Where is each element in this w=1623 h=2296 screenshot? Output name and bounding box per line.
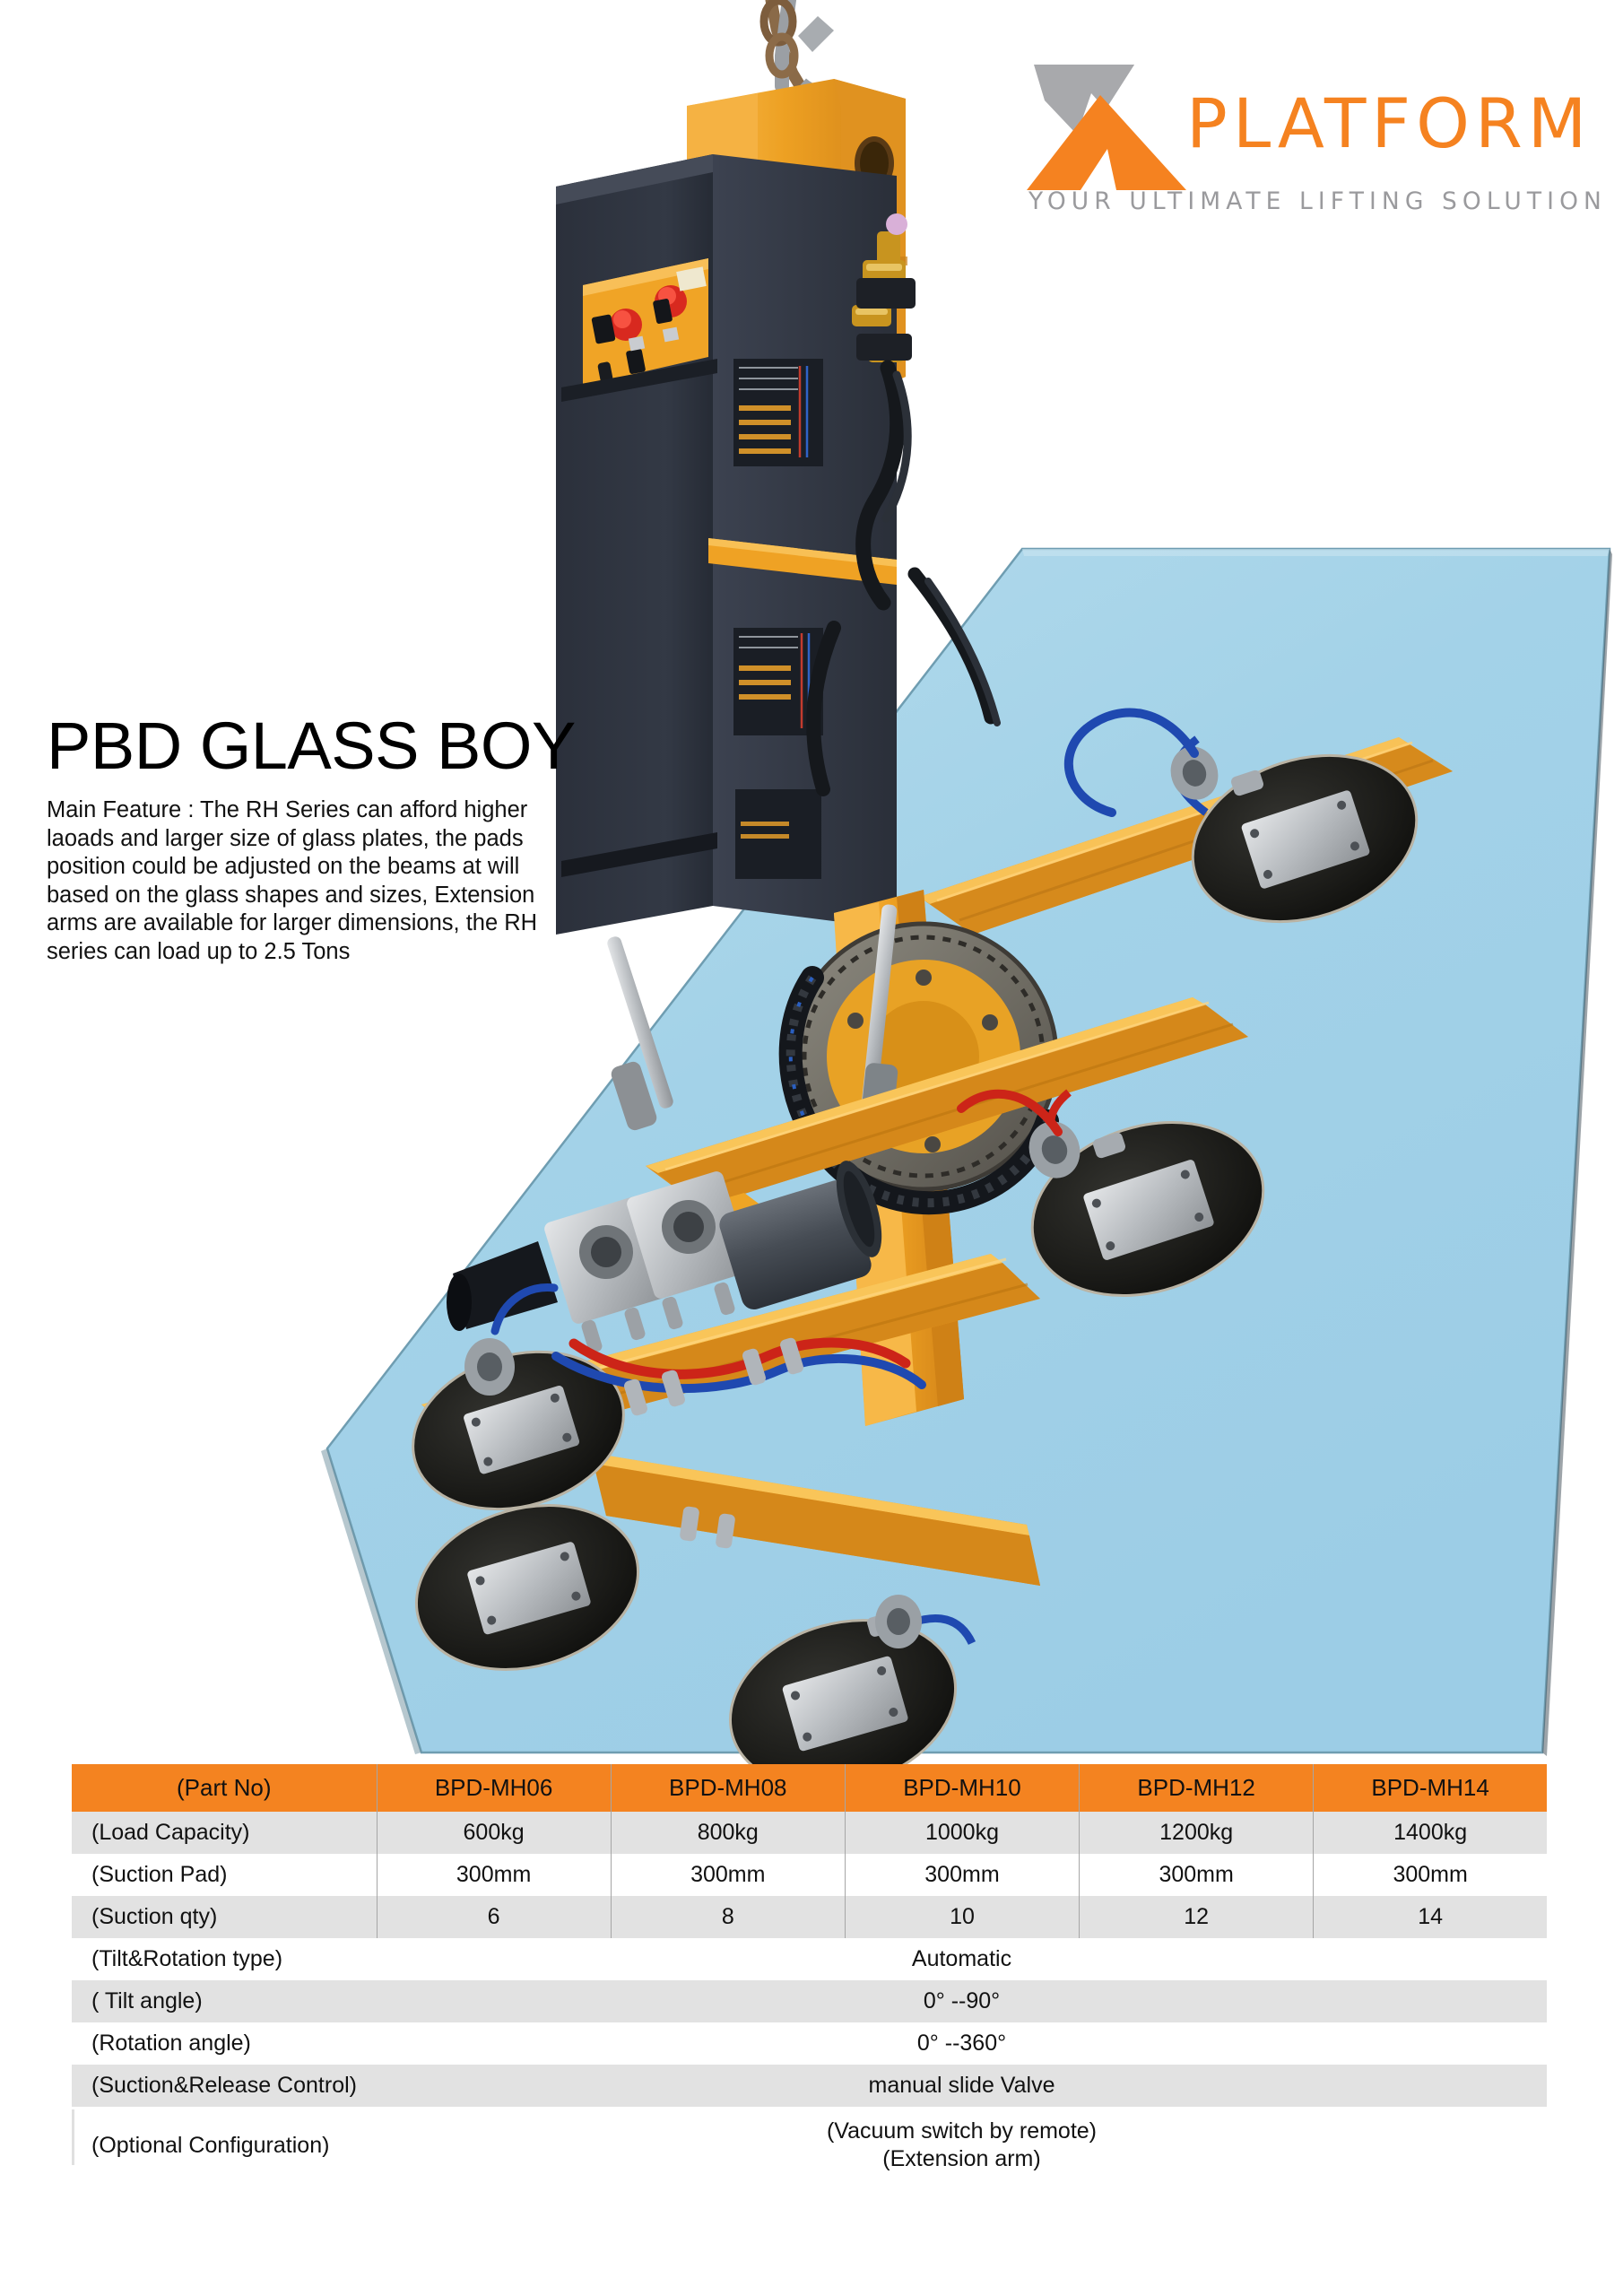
row-label: (Suction&Release Control) [72, 2065, 377, 2107]
row-value: 300mm [377, 1854, 611, 1896]
row-value: 10 [845, 1896, 1079, 1938]
table-row: (Suction&Release Control) manual slide V… [72, 2065, 1547, 2107]
logo-wordmark: PLATFORM [1186, 90, 1592, 158]
optional-config-line-1: (Vacuum switch by remote) [377, 2118, 1547, 2145]
row-label: (Rotation angle) [72, 2022, 377, 2065]
table-header-row: (Part No) BPD-MH06 BPD-MH08 BPD-MH10 BPD… [72, 1764, 1547, 1812]
header-part-no: (Part No) [72, 1764, 377, 1812]
row-value: 14 [1314, 1896, 1547, 1938]
table-row: (Optional Configuration) (Vacuum switch … [72, 2107, 1547, 2184]
row-value: 600kg [377, 1812, 611, 1854]
row-value: 8 [611, 1896, 845, 1938]
table-row: ( Tilt angle) 0° --90° [72, 1980, 1547, 2022]
table-row: (Rotation angle) 0° --360° [72, 2022, 1547, 2065]
row-label: (Optional Configuration) [72, 2107, 377, 2184]
vent-upper [733, 359, 823, 466]
control-box [556, 154, 897, 935]
table-row: (Suction Pad) 300mm 300mm 300mm 300mm 30… [72, 1854, 1547, 1896]
row-value: 300mm [1314, 1854, 1547, 1896]
row-value: 300mm [611, 1854, 845, 1896]
lifting-chain [764, 0, 834, 91]
datasheet-page: PLATFORM YOUR ULTIMATE LIFTING SOLUTION … [0, 0, 1623, 2296]
row-value-merged: Automatic [377, 1938, 1547, 1980]
main-feature-text: Main Feature : The RH Series can afford … [47, 796, 567, 966]
row-label: (Suction Pad) [72, 1854, 377, 1896]
row-value-merged: 0° --90° [377, 1980, 1547, 2022]
row-label: (Suction qty) [72, 1896, 377, 1938]
table-row: (Tilt&Rotation type) Automatic [72, 1938, 1547, 1980]
table-row: (Suction qty) 6 8 10 12 14 [72, 1896, 1547, 1938]
row-value: 800kg [611, 1812, 845, 1854]
row-value-merged: manual slide Valve [377, 2065, 1547, 2107]
brand-logo: PLATFORM YOUR ULTIMATE LIFTING SOLUTION [1027, 56, 1605, 226]
optional-config-line-2: (Extension arm) [377, 2145, 1547, 2173]
row-value: 12 [1080, 1896, 1314, 1938]
row-value-merged: 0° --360° [377, 2022, 1547, 2065]
header-model-4: BPD-MH12 [1080, 1764, 1314, 1812]
row-label: (Load Capacity) [72, 1812, 377, 1854]
header-model-1: BPD-MH06 [377, 1764, 611, 1812]
page-title: PBD GLASS BOY [47, 713, 576, 779]
row-value: 1000kg [845, 1812, 1079, 1854]
row-label: (Tilt&Rotation type) [72, 1938, 377, 1980]
row-value: 300mm [1080, 1854, 1314, 1896]
header-model-2: BPD-MH08 [611, 1764, 845, 1812]
table-row: (Load Capacity) 600kg 800kg 1000kg 1200k… [72, 1812, 1547, 1854]
header-model-5: BPD-MH14 [1314, 1764, 1547, 1812]
vent-bottom [735, 789, 821, 879]
row-value: 300mm [845, 1854, 1079, 1896]
row-label: ( Tilt angle) [72, 1980, 377, 2022]
table-accent-line [72, 2109, 74, 2165]
row-value: 1200kg [1080, 1812, 1314, 1854]
row-value-merged: (Vacuum switch by remote) (Extension arm… [377, 2107, 1547, 2184]
header-model-3: BPD-MH10 [845, 1764, 1079, 1812]
logo-tagline: YOUR ULTIMATE LIFTING SOLUTION [1028, 187, 1607, 215]
row-value: 6 [377, 1896, 611, 1938]
x-arrow-logo-mark-icon [1027, 56, 1206, 199]
specification-table: (Part No) BPD-MH06 BPD-MH08 BPD-MH10 BPD… [72, 1764, 1547, 2184]
row-value: 1400kg [1314, 1812, 1547, 1854]
